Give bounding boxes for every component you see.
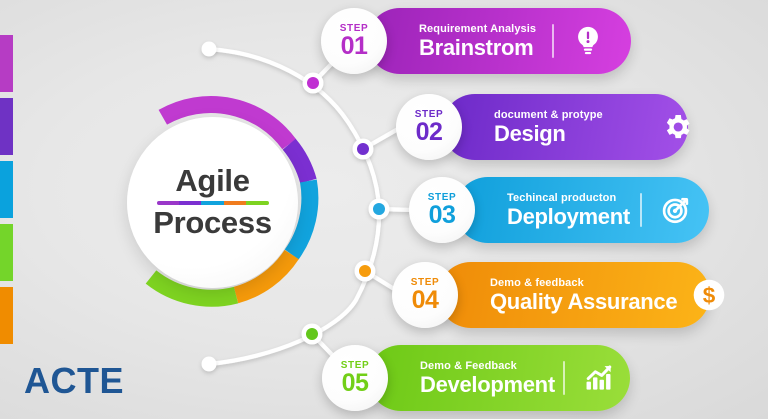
- step-number-03: 03: [429, 203, 456, 228]
- step-title-02: Design: [494, 122, 603, 145]
- hub-face: Agile Process: [127, 117, 298, 288]
- step-pill-04[interactable]: Demo & feedback Quality Assurance $: [438, 262, 710, 328]
- step-row-02[interactable]: document & protype Design STEP 02: [396, 94, 696, 160]
- agile-process-hub: Agile Process: [105, 95, 320, 310]
- acte-logo: ACTE: [24, 360, 124, 402]
- step-number-02: 02: [416, 120, 443, 145]
- edge-color-bars: [0, 0, 13, 419]
- step-text-02: document & protype Design: [494, 109, 603, 145]
- step-text-03: Techincal producton Deployment: [507, 192, 630, 228]
- step-badge-01[interactable]: STEP 01: [321, 8, 387, 74]
- step-pill-05[interactable]: Demo & Feedback Development: [368, 345, 630, 411]
- step-badge-02[interactable]: STEP 02: [396, 94, 462, 160]
- dollar-icon: $: [691, 275, 727, 315]
- step-title-04: Quality Assurance: [490, 290, 677, 313]
- edge-bar-3: [0, 161, 13, 218]
- step-badge-05[interactable]: STEP 05: [322, 345, 388, 411]
- step-subtitle-04: Demo & feedback: [490, 277, 677, 289]
- step-subtitle-05: Demo & Feedback: [420, 360, 555, 372]
- connector-endpoint-top: [202, 42, 217, 57]
- step-pill-01[interactable]: Requirement Analysis Brainstrom: [367, 8, 631, 74]
- step-text-04: Demo & feedback Quality Assurance: [490, 277, 677, 313]
- hub-title-line1: Agile: [175, 165, 249, 198]
- edge-bar-1: [0, 35, 13, 92]
- step-title-03: Deployment: [507, 205, 630, 228]
- step-number-04: 04: [412, 288, 439, 313]
- step-subtitle-01: Requirement Analysis: [419, 23, 536, 35]
- edge-bar-2: [0, 98, 13, 155]
- step-number-05: 05: [342, 371, 369, 396]
- step-pill-02[interactable]: document & protype Design: [442, 94, 688, 160]
- step-text-01: Requirement Analysis Brainstrom: [419, 23, 536, 59]
- step-row-01[interactable]: Requirement Analysis Brainstrom STEP 01: [321, 8, 631, 74]
- step-subtitle-03: Techincal producton: [507, 192, 630, 204]
- step-row-04[interactable]: Demo & feedback Quality Assurance $ STEP…: [392, 262, 712, 328]
- connector-endpoint-bottom: [202, 357, 217, 372]
- step-row-03[interactable]: Techincal producton Deployment STEP 03: [409, 177, 709, 243]
- growth-chart-icon: [579, 358, 619, 398]
- lightbulb-icon: [568, 21, 608, 61]
- target-icon: [656, 190, 696, 230]
- gear-icon: [661, 107, 693, 147]
- step-subtitle-02: document & protype: [494, 109, 603, 121]
- step-title-01: Brainstrom: [419, 36, 536, 59]
- pill-divider-03: [640, 193, 642, 227]
- svg-text:$: $: [703, 283, 716, 308]
- step-badge-04[interactable]: STEP 04: [392, 262, 458, 328]
- step-number-01: 01: [341, 34, 368, 59]
- step-title-05: Development: [420, 373, 555, 396]
- edge-bar-5: [0, 287, 13, 344]
- step-row-05[interactable]: Demo & Feedback Development STEP 05: [322, 345, 622, 411]
- hub-title-line2: Process: [153, 207, 272, 240]
- step-badge-03[interactable]: STEP 03: [409, 177, 475, 243]
- edge-bar-4: [0, 224, 13, 281]
- infographic-canvas: Agile Process Requirement Analysis Brain…: [0, 0, 768, 419]
- step-pill-03[interactable]: Techincal producton Deployment: [455, 177, 709, 243]
- pill-divider-01: [552, 24, 554, 58]
- pill-divider-05: [563, 361, 565, 395]
- step-text-05: Demo & Feedback Development: [420, 360, 555, 396]
